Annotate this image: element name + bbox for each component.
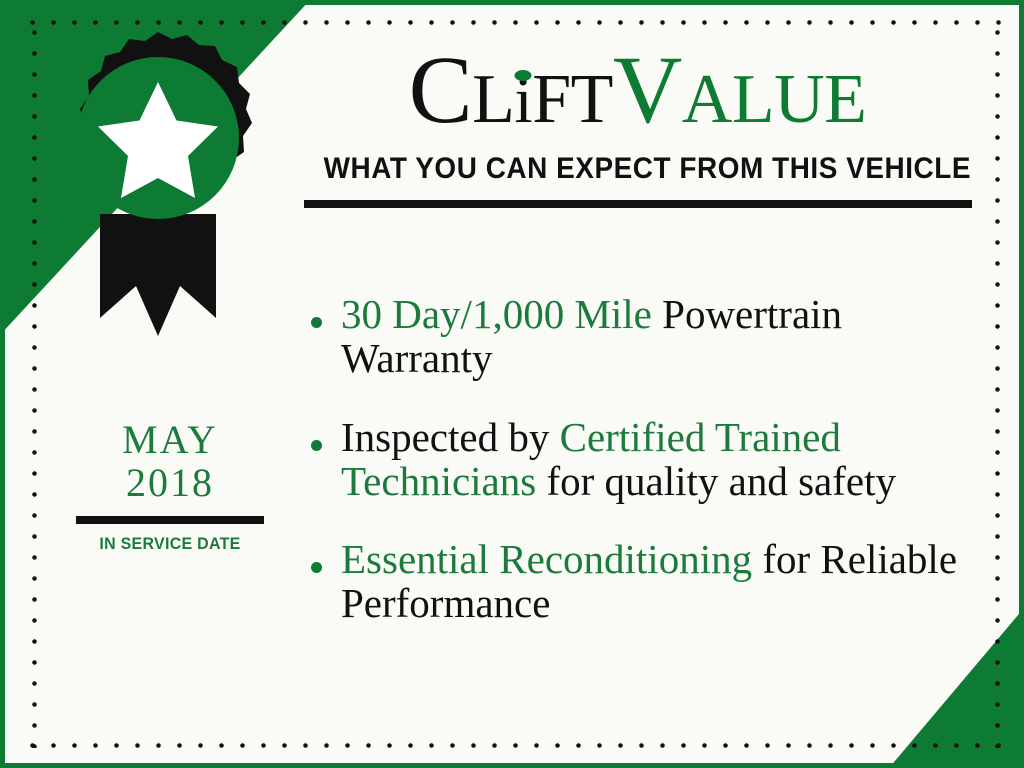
benefits-list: 30 Day/1,000 Mile Powertrain Warranty In… bbox=[308, 292, 988, 660]
in-service-month: MAY bbox=[60, 418, 280, 461]
logo-letters-alue: ALUE bbox=[682, 61, 867, 138]
logo-letter-v: V bbox=[613, 36, 682, 143]
logo-letter-i: i bbox=[514, 64, 532, 137]
card-subtitle: WHAT YOU CAN EXPECT FROM THIS VEHICLE bbox=[324, 152, 952, 186]
benefit-2-body: for quality and safety bbox=[536, 458, 896, 504]
logo-letter-c: C bbox=[409, 36, 473, 143]
benefit-text-2: Inspected by Certified Trained Technicia… bbox=[341, 415, 988, 504]
in-service-year: 2018 bbox=[60, 461, 280, 504]
benefit-3-highlight: Essential Reconditioning bbox=[341, 536, 752, 582]
bullet-dot-icon bbox=[311, 440, 322, 451]
card-header: CLiFTVALUE WHAT YOU CAN EXPECT FROM THIS… bbox=[300, 42, 975, 208]
subtitle-divider-rule bbox=[304, 200, 972, 208]
in-service-divider-rule bbox=[76, 516, 264, 524]
list-item: Inspected by Certified Trained Technicia… bbox=[308, 415, 988, 504]
dotted-border-left bbox=[30, 22, 39, 748]
benefit-text-1: 30 Day/1,000 Mile Powertrain Warranty bbox=[341, 292, 988, 381]
dotted-border-bottom bbox=[22, 741, 1002, 750]
list-item: Essential Reconditioning for Reliable Pe… bbox=[308, 537, 988, 626]
brand-logo-wordmark: CLiFTVALUE bbox=[300, 42, 975, 138]
logo-letter-l: L bbox=[472, 61, 514, 138]
benefit-text-3: Essential Reconditioning for Reliable Pe… bbox=[341, 537, 988, 626]
bullet-dot-icon bbox=[311, 317, 322, 328]
dotted-border-right bbox=[993, 22, 1002, 748]
bullet-dot-icon bbox=[311, 562, 322, 573]
logo-letters-ft: FT bbox=[532, 61, 613, 138]
benefit-2-lead: Inspected by bbox=[341, 414, 560, 460]
list-item: 30 Day/1,000 Mile Powertrain Warranty bbox=[308, 292, 988, 381]
in-service-date-block: MAY 2018 IN SERVICE DATE bbox=[60, 418, 280, 554]
in-service-label: IN SERVICE DATE bbox=[67, 534, 274, 554]
benefit-1-highlight: 30 Day/1,000 Mile bbox=[341, 291, 652, 337]
award-ribbon-star-icon bbox=[42, 18, 274, 348]
clift-value-badge-card: CLiFTVALUE WHAT YOU CAN EXPECT FROM THIS… bbox=[0, 0, 1024, 768]
logo-i-dot-icon bbox=[515, 70, 532, 81]
